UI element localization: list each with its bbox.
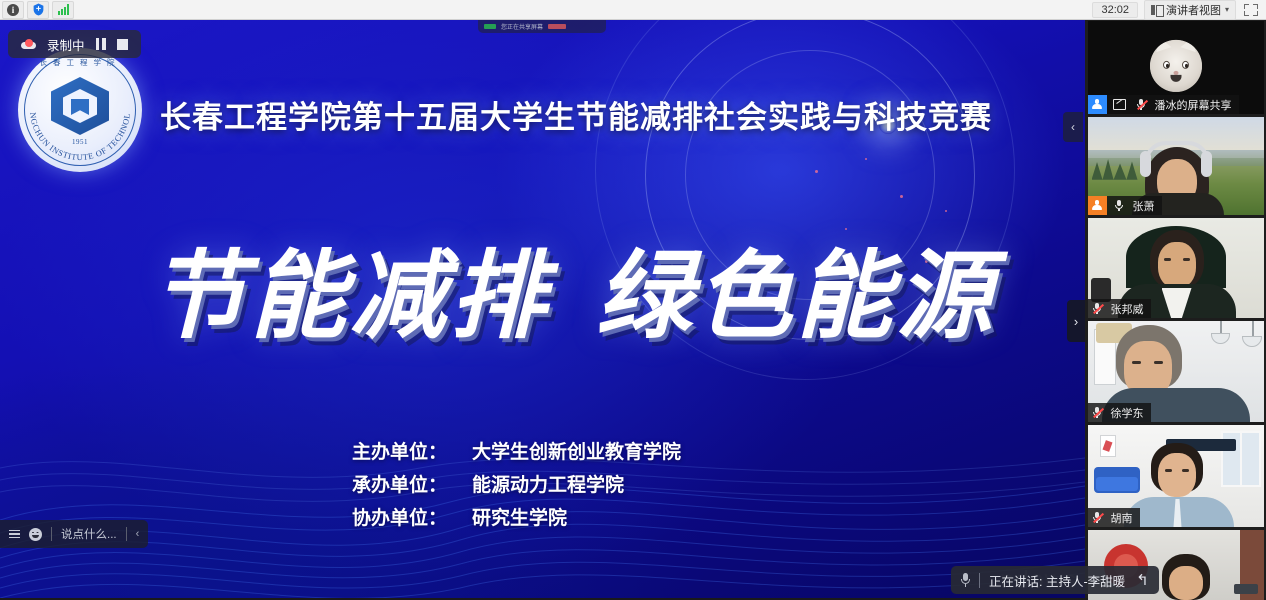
sofa-seat	[1096, 477, 1138, 491]
back-arrow-icon[interactable]: ↰	[1136, 571, 1149, 589]
person-icon	[1088, 95, 1107, 114]
organizer-value: 研究生学院	[472, 502, 567, 535]
logo-curved-text: CHANGCHUN INSTITUTE OF TECHNOLOGY	[18, 48, 142, 172]
participant-tile[interactable]: 张邦威	[1088, 218, 1264, 318]
chat-collapse-icon[interactable]: ‹	[136, 528, 140, 540]
participant-strip[interactable]: 潘冰的屏幕共享 张萧	[1085, 20, 1266, 598]
divider	[51, 527, 52, 541]
pause-icon[interactable]	[96, 38, 106, 50]
fs-corner-bl	[1244, 11, 1249, 16]
share-status-indicator	[484, 24, 496, 29]
window-mullion	[1240, 431, 1242, 487]
university-logo: 长春工程学院 CHANGCHUN INSTITUTE OF TECHNOLOGY…	[18, 48, 142, 172]
badge-icons	[1088, 196, 1129, 215]
stop-icon[interactable]	[117, 39, 128, 50]
collapse-panel-button[interactable]: ‹	[1063, 112, 1083, 142]
organizer-label: 承办单位：	[352, 469, 472, 502]
mic-muted-icon	[1088, 299, 1107, 318]
person-face	[1158, 242, 1196, 288]
divider	[979, 573, 980, 588]
participant-badge: 胡南	[1088, 508, 1140, 527]
slide-title: 长春工程学院第十五届大学生节能减排社会实践与科技竞赛	[160, 92, 1020, 137]
shield-icon[interactable]	[27, 1, 49, 19]
avatar	[1150, 39, 1202, 91]
badge-icons	[1088, 299, 1107, 318]
eye-left	[1132, 361, 1141, 364]
cat-eye	[1182, 60, 1189, 68]
stop-share-indicator[interactable]	[548, 24, 566, 29]
active-speaker-bar: 正在讲话: 主持人-李甜暖 ↰	[951, 566, 1159, 594]
organizer-row: 承办单位： 能源动力工程学院	[352, 469, 872, 502]
meeting-timer: 32:02	[1092, 2, 1138, 18]
eye-left	[1164, 258, 1171, 261]
participant-name: 张邦威	[1107, 301, 1151, 317]
cat-eye	[1163, 60, 1170, 68]
logo-year: 1951	[18, 138, 142, 146]
share-toolbar-sliver[interactable]: 您正在共享屏幕	[478, 20, 606, 33]
fs-corner-tr	[1253, 4, 1258, 9]
participant-name: 潘冰的屏幕共享	[1151, 97, 1239, 113]
mic-muted-icon	[1088, 403, 1107, 422]
badge-icons	[1088, 95, 1151, 114]
organizer-value: 能源动力工程学院	[472, 469, 624, 502]
organizer-row: 主办单位： 大学生创新创业教育学院	[352, 436, 872, 469]
badge-icons	[1088, 508, 1107, 527]
eye-right	[1182, 469, 1189, 472]
view-mode-label: 演讲者视图	[1166, 2, 1221, 18]
fs-corner-tl	[1244, 4, 1249, 9]
participant-name: 张萧	[1129, 198, 1162, 214]
cloud-record-icon	[21, 39, 36, 49]
recording-indicator[interactable]: 录制中	[8, 30, 141, 58]
chat-input[interactable]: 说点什么...	[61, 526, 117, 542]
mic-muted-icon	[1132, 95, 1151, 114]
recording-status-label: 录制中	[47, 35, 85, 54]
info-icon[interactable]: i	[2, 1, 24, 19]
view-mode-button[interactable]: 演讲者视图 ▾	[1144, 0, 1236, 20]
mic-icon	[961, 573, 970, 587]
participant-badge: 张萧	[1088, 196, 1162, 215]
headphone-band	[1144, 141, 1210, 163]
chevron-down-icon: ▾	[1225, 5, 1229, 14]
participant-tile[interactable]: 张萧	[1088, 117, 1264, 215]
participant-name: 徐学东	[1107, 405, 1151, 421]
organizer-value: 大学生创新创业教育学院	[472, 436, 681, 469]
participant-badge: 潘冰的屏幕共享	[1088, 95, 1239, 114]
smiley-icon[interactable]	[29, 528, 42, 541]
person-icon	[1088, 196, 1107, 215]
chat-input-bar[interactable]: 说点什么... ‹	[0, 520, 148, 548]
info-glyph: i	[7, 4, 19, 16]
lamp-cord	[1252, 321, 1254, 337]
participant-badge: 徐学东	[1088, 403, 1151, 422]
presentation-slide: 长春工程学院 CHANGCHUN INSTITUTE OF TECHNOLOGY…	[0, 20, 1085, 598]
pendant-lamp	[1242, 336, 1262, 347]
expand-panel-button[interactable]: ›	[1067, 300, 1085, 342]
badge-icons	[1088, 403, 1107, 422]
participant-tile[interactable]: 潘冰的屏幕共享	[1088, 21, 1264, 114]
participant-tile[interactable]: 胡南	[1088, 425, 1264, 527]
desk-object	[1234, 584, 1258, 594]
eye-left	[1165, 469, 1172, 472]
participant-tile[interactable]: 徐学东	[1088, 321, 1264, 422]
slide-organizer-list: 主办单位： 大学生创新创业教育学院 承办单位： 能源动力工程学院 协办单位： 研…	[352, 436, 872, 535]
fs-corner-br	[1253, 11, 1258, 16]
organizer-row: 协办单位： 研究生学院	[352, 502, 872, 535]
system-top-bar: i 32:02 演讲者视图 ▾	[0, 0, 1266, 20]
signal-glyph	[58, 4, 69, 15]
participant-name: 胡南	[1107, 510, 1140, 526]
eye-right	[1154, 361, 1163, 364]
list-icon[interactable]	[9, 530, 20, 539]
pendant-lamp	[1211, 333, 1230, 344]
shared-screen-stage[interactable]: 长春工程学院 CHANGCHUN INSTITUTE OF TECHNOLOGY…	[0, 20, 1085, 598]
mic-muted-icon	[1088, 508, 1107, 527]
share-status-label: 您正在共享屏幕	[501, 22, 543, 31]
divider	[126, 527, 127, 541]
speaker-view-icon	[1151, 5, 1162, 15]
organizer-label: 主办单位：	[352, 436, 472, 469]
screen-share-icon	[1110, 95, 1129, 114]
fullscreen-icon[interactable]	[1242, 2, 1260, 18]
shield-glyph	[32, 3, 45, 16]
headline-left: 节能减排	[150, 218, 550, 357]
signal-bars-icon[interactable]	[52, 1, 74, 19]
participant-badge: 张邦威	[1088, 299, 1151, 318]
eye-right	[1183, 258, 1190, 261]
active-speaker-label: 正在讲话: 主持人-李甜暖	[989, 571, 1125, 590]
slide-headline: 节能减排 绿色能源	[150, 225, 980, 350]
headline-right: 绿色能源	[596, 218, 996, 357]
person-face	[1158, 453, 1196, 497]
organizer-label: 协办单位：	[352, 502, 472, 535]
mic-icon	[1110, 196, 1129, 215]
